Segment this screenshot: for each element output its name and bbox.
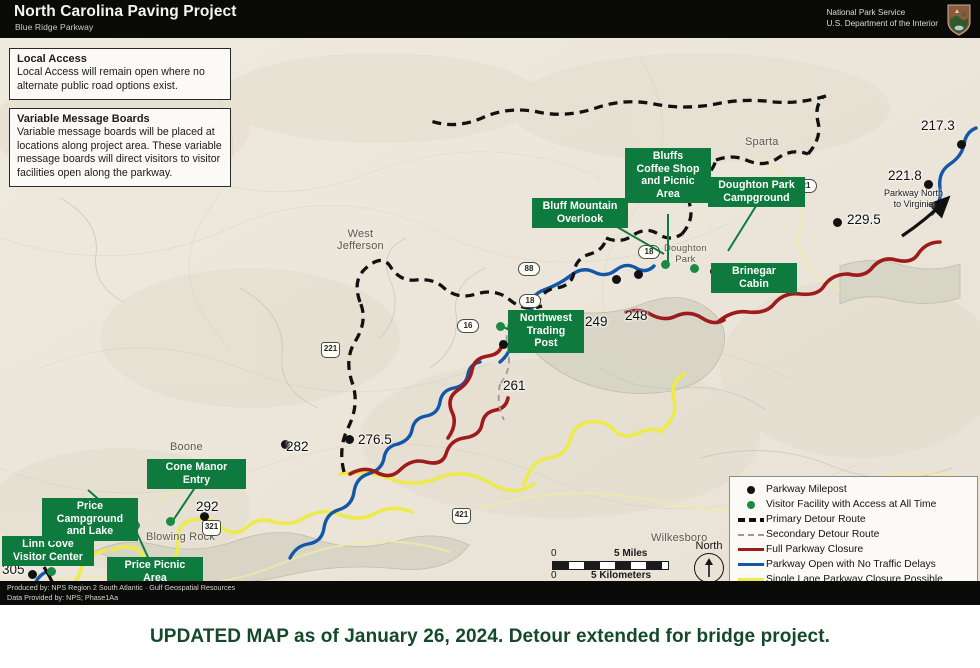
milepost-dot[interactable] [345, 435, 354, 444]
callout-cone-manor-entry[interactable]: Cone Manor Entry [147, 459, 246, 489]
legend-symbol-open-no-delays-icon [736, 563, 766, 566]
milepost-dot[interactable] [612, 275, 621, 284]
scale-bar: 0 5 Miles 0 5 Kilometers [551, 548, 686, 583]
legend-label: Secondary Detour Route [766, 529, 879, 540]
highway-shield-88: 88 [518, 262, 540, 276]
nps-arrowhead-icon [942, 2, 976, 36]
milepost-label: 221.8 [888, 168, 922, 183]
map-page: North Carolina Paving Project Blue Ridge… [0, 0, 980, 668]
callout-bluff-mountain-overlook[interactable]: Bluff Mountain Overlook [532, 198, 628, 228]
agency-line-2: U.S. Department of the Interior [827, 18, 939, 29]
facility-dot[interactable] [496, 322, 505, 331]
map-credits: Produced by: NPS Region 2 South Atlantic… [0, 581, 980, 605]
milepost-dot[interactable] [28, 570, 37, 579]
info-box-title: Variable Message Boards [17, 113, 223, 125]
agency-block: National Park Service U.S. Department of… [827, 7, 939, 29]
facility-dot[interactable] [690, 264, 699, 273]
info-box-body: Local Access will remain open where no a… [17, 66, 223, 93]
map-canvas[interactable]: Local Access Local Access will remain op… [0, 38, 980, 605]
town-label-sparta: Sparta [745, 136, 779, 148]
scale-miles-label: 5 Miles [614, 548, 647, 559]
callout-northwest-trading-post[interactable]: Northwest Trading Post [508, 310, 584, 353]
annotation-parkway-north-to-virginia: Parkway North to Virginia [884, 188, 943, 209]
scale-graphic [552, 561, 669, 570]
milepost-label: 217.3 [921, 118, 955, 133]
page-subtitle: Blue Ridge Parkway [15, 22, 93, 32]
milepost-label: 276.5 [358, 432, 392, 447]
highway-shield-321: 321 [202, 520, 221, 536]
town-label-doughton-park: Doughton Park [664, 243, 707, 265]
callout-brinegar-cabin[interactable]: Brinegar Cabin [711, 263, 797, 293]
legend-row: Full Parkway Closure [736, 542, 971, 557]
update-caption: UPDATED MAP as of January 26, 2024. Deto… [0, 605, 980, 668]
facility-dot[interactable] [661, 260, 670, 269]
milepost-dot[interactable] [924, 180, 933, 189]
facility-dot[interactable] [166, 517, 175, 526]
facility-dot[interactable] [47, 567, 56, 576]
town-label-west-jefferson: West Jefferson [337, 228, 384, 252]
info-box-variable-message-boards: Variable Message Boards Variable message… [9, 108, 231, 187]
milepost-label: 249 [585, 314, 608, 329]
milepost-label: 282 [286, 439, 309, 454]
scale-miles-row: 0 5 Miles [551, 548, 686, 561]
legend-label: Parkway Open with No Traffic Delays [766, 559, 936, 570]
highway-shield-16: 16 [457, 319, 479, 333]
milepost-dot[interactable] [833, 218, 842, 227]
callout-doughton-park-campground[interactable]: Doughton Park Campground [708, 177, 805, 207]
info-box-local-access: Local Access Local Access will remain op… [9, 48, 231, 100]
agency-line-1: National Park Service [827, 7, 939, 18]
milepost-dot[interactable] [634, 270, 643, 279]
legend-row: Secondary Detour Route [736, 527, 971, 542]
callout-bluffs-coffee-shop-and-picnic-area[interactable]: Bluffs Coffee Shop and Picnic Area [625, 148, 711, 203]
legend-label: Visitor Facility with Access at All Time [766, 499, 936, 510]
milepost-label: 292 [196, 499, 219, 514]
legend-label: Primary Detour Route [766, 514, 866, 525]
highway-shield-18: 18 [638, 245, 660, 259]
info-box-title: Local Access [17, 53, 223, 65]
north-arrow-label: North [689, 540, 729, 552]
callout-linn-cove-visitor-center[interactable]: Linn Cove Visitor Center [2, 536, 94, 566]
town-label-boone: Boone [170, 441, 203, 453]
credits-line-1: Produced by: NPS Region 2 South Atlantic… [7, 583, 980, 593]
milepost-label: 248 [625, 308, 648, 323]
legend-symbol-milepost-dot-icon [736, 486, 766, 494]
legend-row: Parkway Milepost [736, 482, 971, 497]
scale-km-label: 5 Kilometers [591, 570, 651, 581]
milepost-label: 261 [503, 378, 526, 393]
legend-label: Full Parkway Closure [766, 544, 863, 555]
legend-row: Primary Detour Route [736, 512, 971, 527]
highway-shield-18b: 18 [519, 294, 541, 308]
legend-symbol-primary-detour-icon [736, 518, 766, 522]
map-legend: Parkway Milepost Visitor Facility with A… [729, 476, 978, 593]
north-arrow: North [689, 540, 729, 583]
legend-row: Visitor Facility with Access at All Time [736, 497, 971, 512]
milepost-label: 229.5 [847, 212, 881, 227]
legend-symbol-full-closure-icon [736, 548, 766, 551]
scale-miles-zero: 0 [551, 548, 557, 559]
north-arrow-icon [694, 553, 724, 583]
legend-symbol-secondary-detour-icon [736, 534, 766, 536]
info-box-body: Variable message boards will be placed a… [17, 126, 223, 180]
legend-symbol-facility-dot-icon [736, 501, 766, 509]
credits-line-2: Data Provided by: NPS; Phase1Aa [7, 593, 980, 603]
highway-shield-221: 221 [321, 342, 340, 358]
highway-shield-421b: 421 [452, 508, 471, 524]
legend-label: Parkway Milepost [766, 484, 847, 495]
milepost-dot[interactable] [957, 140, 966, 149]
page-title: North Carolina Paving Project [14, 3, 237, 21]
legend-row: Parkway Open with No Traffic Delays [736, 557, 971, 572]
callout-price-campground-and-lake[interactable]: Price Campground and Lake [42, 498, 138, 541]
page-header: North Carolina Paving Project Blue Ridge… [0, 0, 980, 38]
scale-km-zero: 0 [551, 570, 557, 581]
milepost-dot[interactable] [499, 340, 508, 349]
